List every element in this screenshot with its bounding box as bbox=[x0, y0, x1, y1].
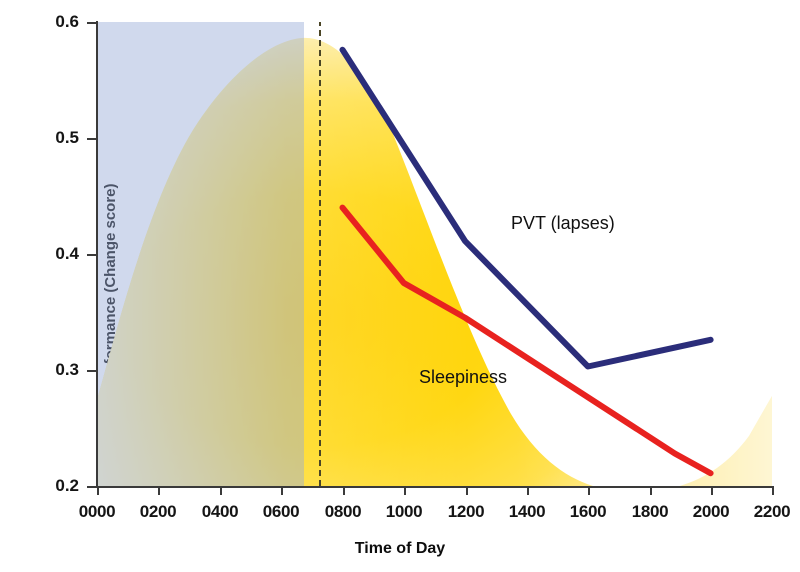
y-tick-label-0.2: 0.2 bbox=[55, 476, 79, 496]
series-line-pvt-lapses bbox=[343, 50, 711, 367]
series-label-pvt-lapses: PVT (lapses) bbox=[511, 213, 615, 234]
x-tick bbox=[711, 486, 713, 495]
x-tick-label-1400: 1400 bbox=[509, 502, 546, 522]
x-tick bbox=[158, 486, 160, 495]
plot-area: PVT (lapses) Sleepiness 0000 0200 0400 0… bbox=[97, 22, 772, 486]
x-tick-label-1200: 1200 bbox=[448, 502, 485, 522]
y-tick bbox=[87, 22, 97, 24]
x-tick-label-1000: 1000 bbox=[386, 502, 423, 522]
x-tick bbox=[466, 486, 468, 495]
data-series-layer bbox=[97, 22, 772, 486]
x-tick-label-2200: 2200 bbox=[754, 502, 791, 522]
chart-figure: Performance (Change score) bbox=[0, 0, 800, 572]
plot-clip bbox=[97, 22, 772, 486]
x-tick bbox=[527, 486, 529, 495]
y-tick-label-0.5: 0.5 bbox=[55, 128, 79, 148]
x-axis-title: Time of Day bbox=[0, 540, 800, 558]
y-tick bbox=[87, 254, 97, 256]
x-tick-label-0200: 0200 bbox=[140, 502, 177, 522]
x-tick-label-1800: 1800 bbox=[632, 502, 669, 522]
x-tick-label-0600: 0600 bbox=[263, 502, 300, 522]
x-tick bbox=[220, 486, 222, 495]
x-tick bbox=[588, 486, 590, 495]
x-tick-label-0400: 0400 bbox=[202, 502, 239, 522]
x-tick-label-1600: 1600 bbox=[570, 502, 607, 522]
x-tick-label-2000: 2000 bbox=[693, 502, 730, 522]
series-line-sleepiness bbox=[343, 208, 711, 474]
x-tick bbox=[404, 486, 406, 495]
x-tick bbox=[650, 486, 652, 495]
x-tick bbox=[772, 486, 774, 495]
y-tick bbox=[87, 486, 97, 488]
y-tick bbox=[87, 370, 97, 372]
y-tick-label-0.6: 0.6 bbox=[55, 12, 79, 32]
x-tick-label-0000: 0000 bbox=[79, 502, 116, 522]
x-tick bbox=[97, 486, 99, 495]
y-tick-label-0.3: 0.3 bbox=[55, 360, 79, 380]
series-label-sleepiness: Sleepiness bbox=[419, 367, 507, 388]
x-tick-label-0800: 0800 bbox=[325, 502, 362, 522]
y-tick-label-0.4: 0.4 bbox=[55, 244, 79, 264]
y-tick bbox=[87, 138, 97, 140]
x-tick bbox=[343, 486, 345, 495]
x-axis-line bbox=[96, 486, 773, 488]
x-tick bbox=[281, 486, 283, 495]
